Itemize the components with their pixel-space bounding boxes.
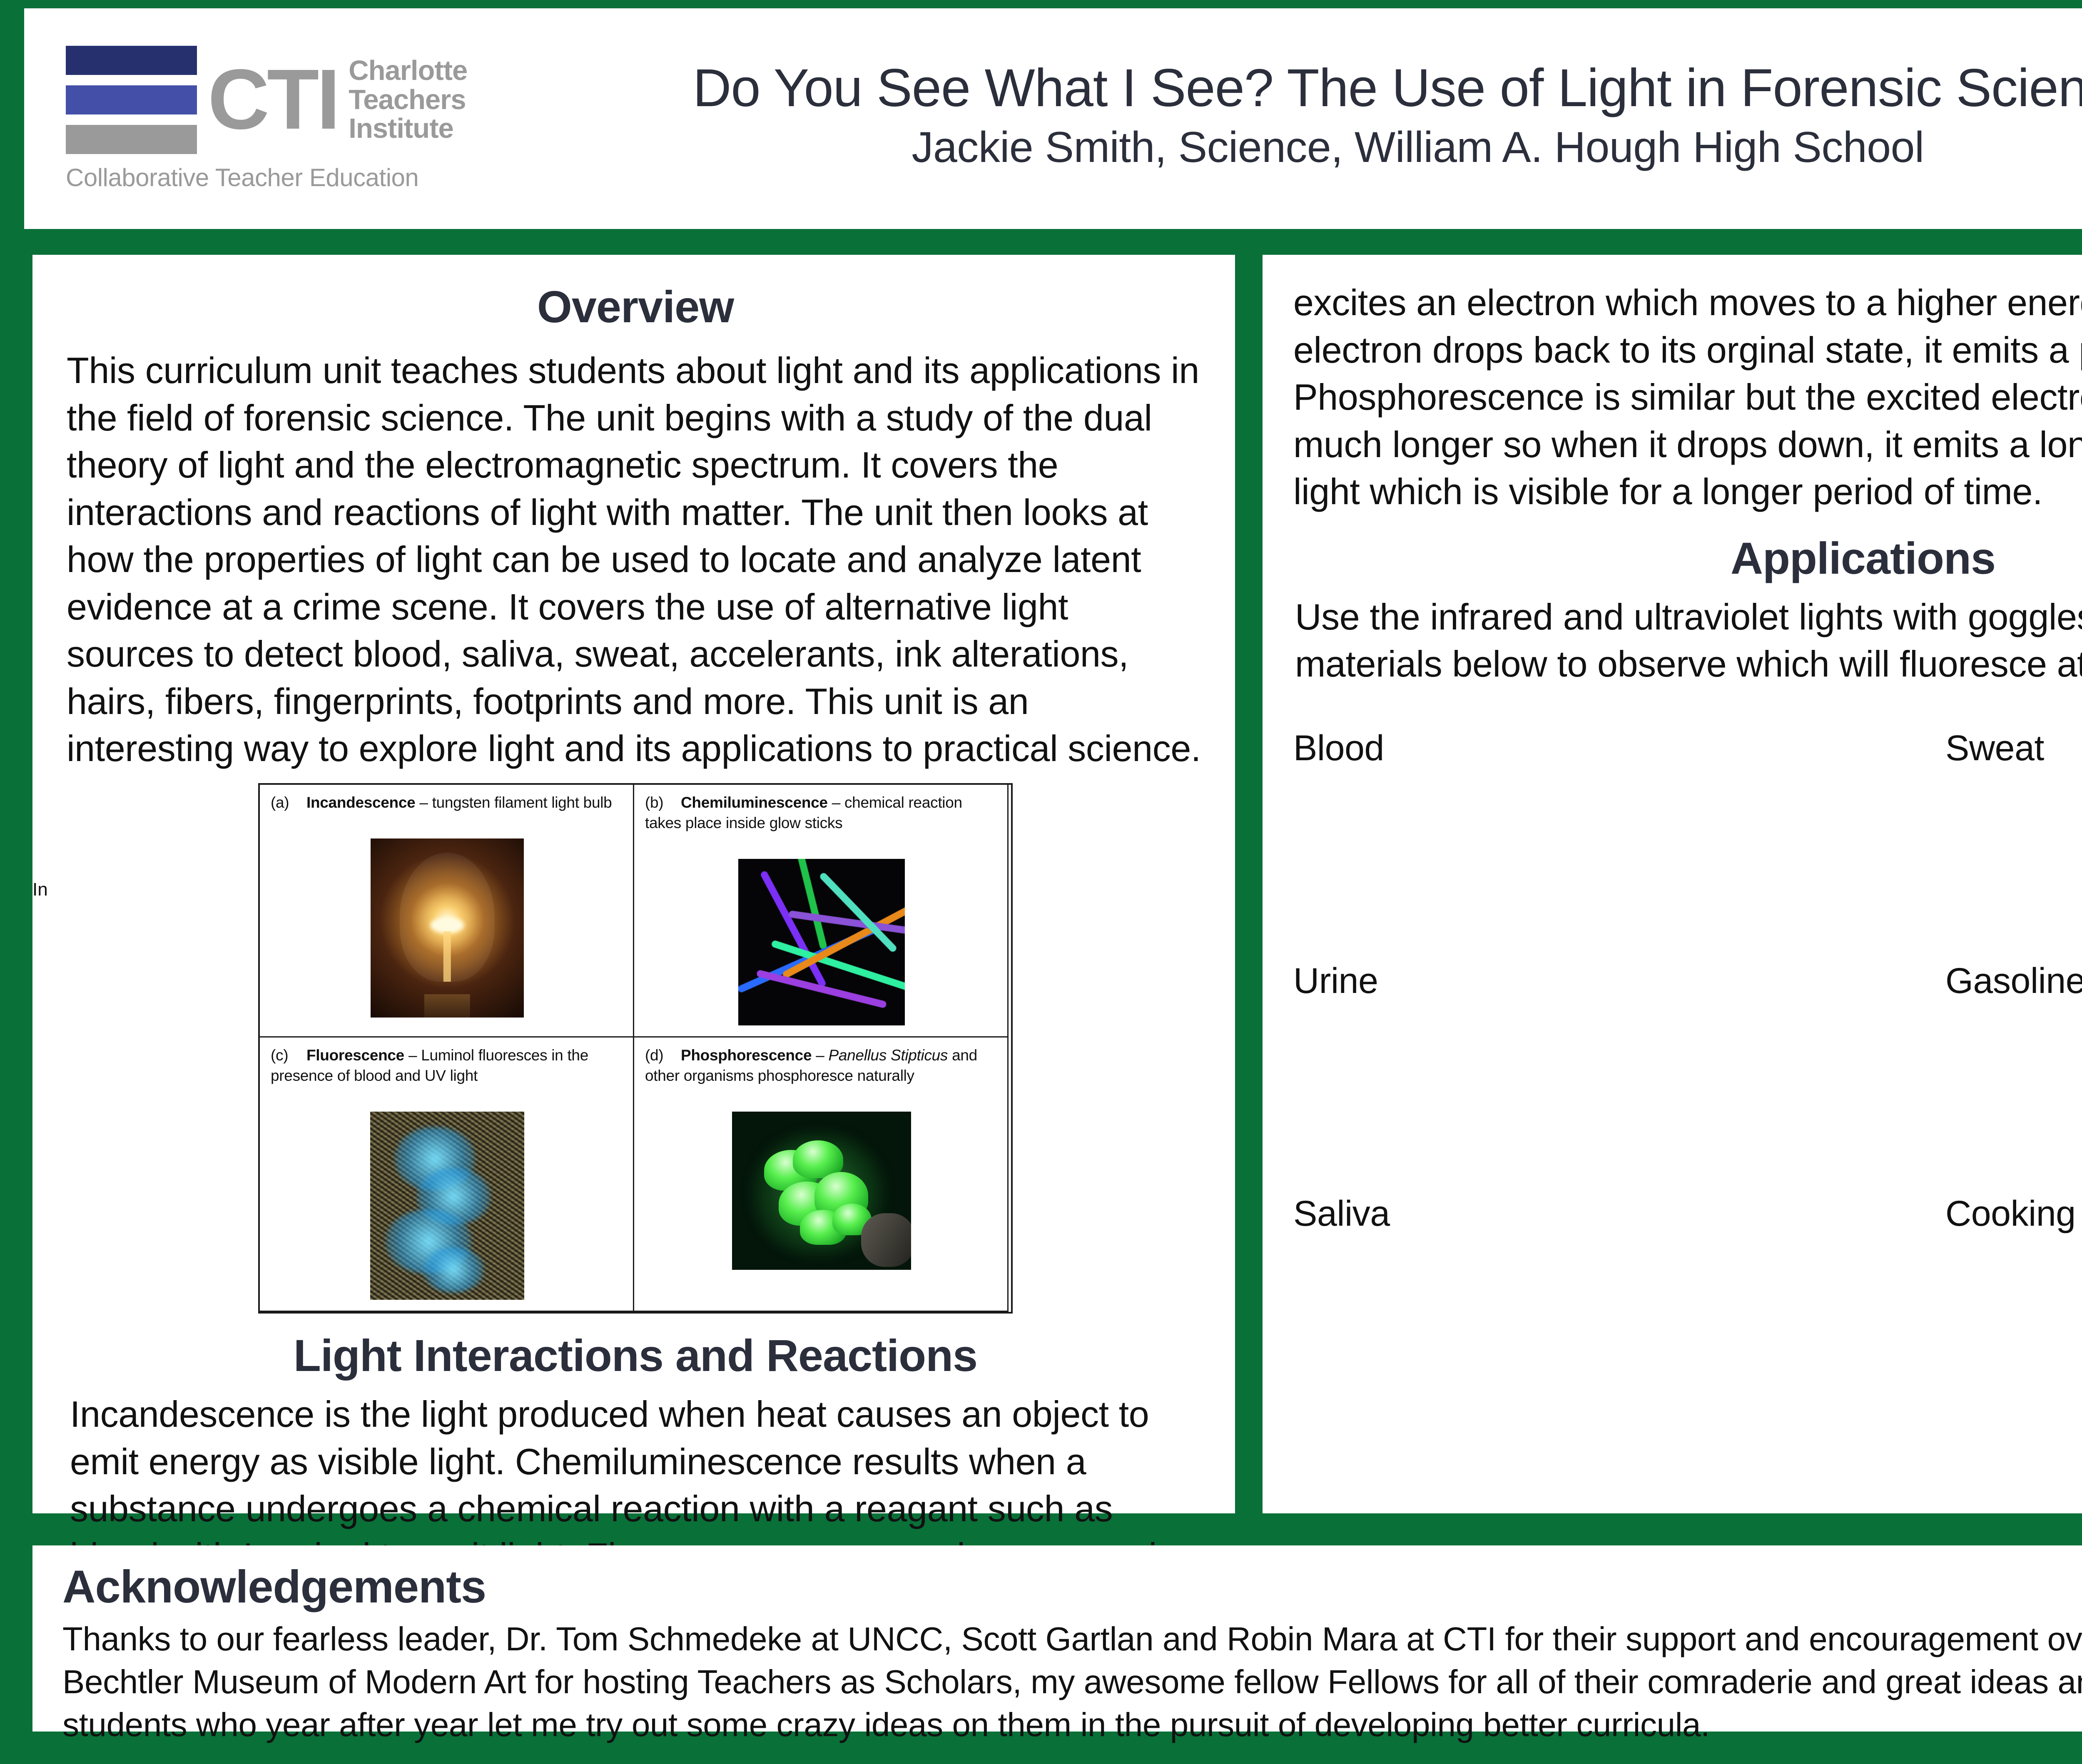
cti-logo: CTI Charlotte Teachers Institute Collabo… [24,8,599,229]
continued-text: excites an electron which moves to a hig… [1293,279,2082,515]
stray-text-artifact: In [32,879,48,900]
figure-cell-d: (d)Phosphorescence – Panellus Stipticus … [633,1036,1009,1312]
bioluminescent-fungus-photo [732,1112,911,1270]
acknowledgements-heading: Acknowledgements [62,1560,2082,1613]
applications-text: Use the infrared and ultraviolet lights … [1293,593,2082,688]
acknowledgements-section: Acknowledgements Thanks to our fearless … [32,1545,2082,1732]
luminol-footprint-photo [370,1112,524,1300]
material-blood: Blood [1293,728,1863,769]
figure-cell-c: (c)Fluorescence – Luminol fluoresces in … [259,1036,634,1312]
figure-dash-b: – [832,794,840,811]
poster-author: Jackie Smith, Science, William A. Hough … [911,119,1924,176]
material-gasoline: Gasoline [1863,960,2082,1002]
figure-term-b: Chemiluminescence [681,794,828,811]
figure-term-d: Phosphorescence [681,1047,812,1064]
cti-tagline: Collaborative Teacher Education [66,163,599,192]
figure-cell-b: (b)Chemiluminescence – chemical reaction… [633,784,1009,1038]
cti-word-institute: Institute [349,114,467,143]
figure-label-d: (d) [645,1045,681,1065]
overview-heading: Overview [67,281,1204,333]
overview-text: This curriculum unit teaches students ab… [67,347,1204,772]
materials-grid: Blood Sweat Urine Gasoline Saliva Cookin… [1293,728,2082,1234]
light-types-figure-table: (a)Incandescence – tungsten filament lig… [258,783,1013,1314]
figure-caption-a: (a)Incandescence – tungsten filament lig… [271,792,624,813]
right-column: excites an electron which moves to a hig… [1263,255,2082,1513]
material-saliva: Saliva [1293,1193,1863,1234]
figure-label-c: (c) [271,1045,306,1065]
cti-word-teachers: Teachers [349,85,467,114]
cti-logo-bars-icon [66,46,197,154]
left-column: Overview This curriculum unit teaches st… [32,255,1235,1513]
page-title: Do You See What I See? The Use of Light … [693,57,2082,119]
poster-header: CTI Charlotte Teachers Institute Collabo… [24,8,2082,229]
figure-caption-b: (b)Chemiluminescence – chemical reaction… [645,792,998,833]
figure-dash-c: – [408,1047,417,1064]
material-cooking-oil: Cooking Oil [1863,1193,2082,1234]
cti-acronym: CTI [208,65,338,134]
glow-sticks-photo [738,859,905,1025]
figure-desc-a: tungsten filament light bulb [428,794,612,811]
figure-dash-a: – [419,794,428,811]
applications-heading: Applications [1293,532,2082,584]
figure-term-a: Incandescence [306,794,415,811]
material-sweat: Sweat [1863,728,2082,769]
interactions-heading: Light Interactions and Reactions [67,1329,1204,1381]
acknowledgements-text: Thanks to our fearless leader, Dr. Tom S… [62,1617,2082,1747]
title-block: Do You See What I See? The Use of Light … [599,57,2082,180]
material-urine: Urine [1293,960,1863,1002]
figure-caption-c: (c)Fluorescence – Luminol fluoresces in … [271,1045,624,1086]
figure-label-a: (a) [271,792,306,813]
figure-label-b: (b) [645,792,681,813]
figure-dash-d: – [816,1047,824,1064]
figure-cell-a: (a)Incandescence – tungsten filament lig… [259,784,634,1038]
figure-term-c: Fluorescence [306,1047,404,1064]
figure-caption-d: (d)Phosphorescence – Panellus Stipticus … [645,1045,998,1086]
cti-word-charlotte: Charlotte [349,56,467,85]
light-bulb-photo [371,838,524,1018]
figure-species-d: Panellus Stipticus [828,1047,948,1064]
